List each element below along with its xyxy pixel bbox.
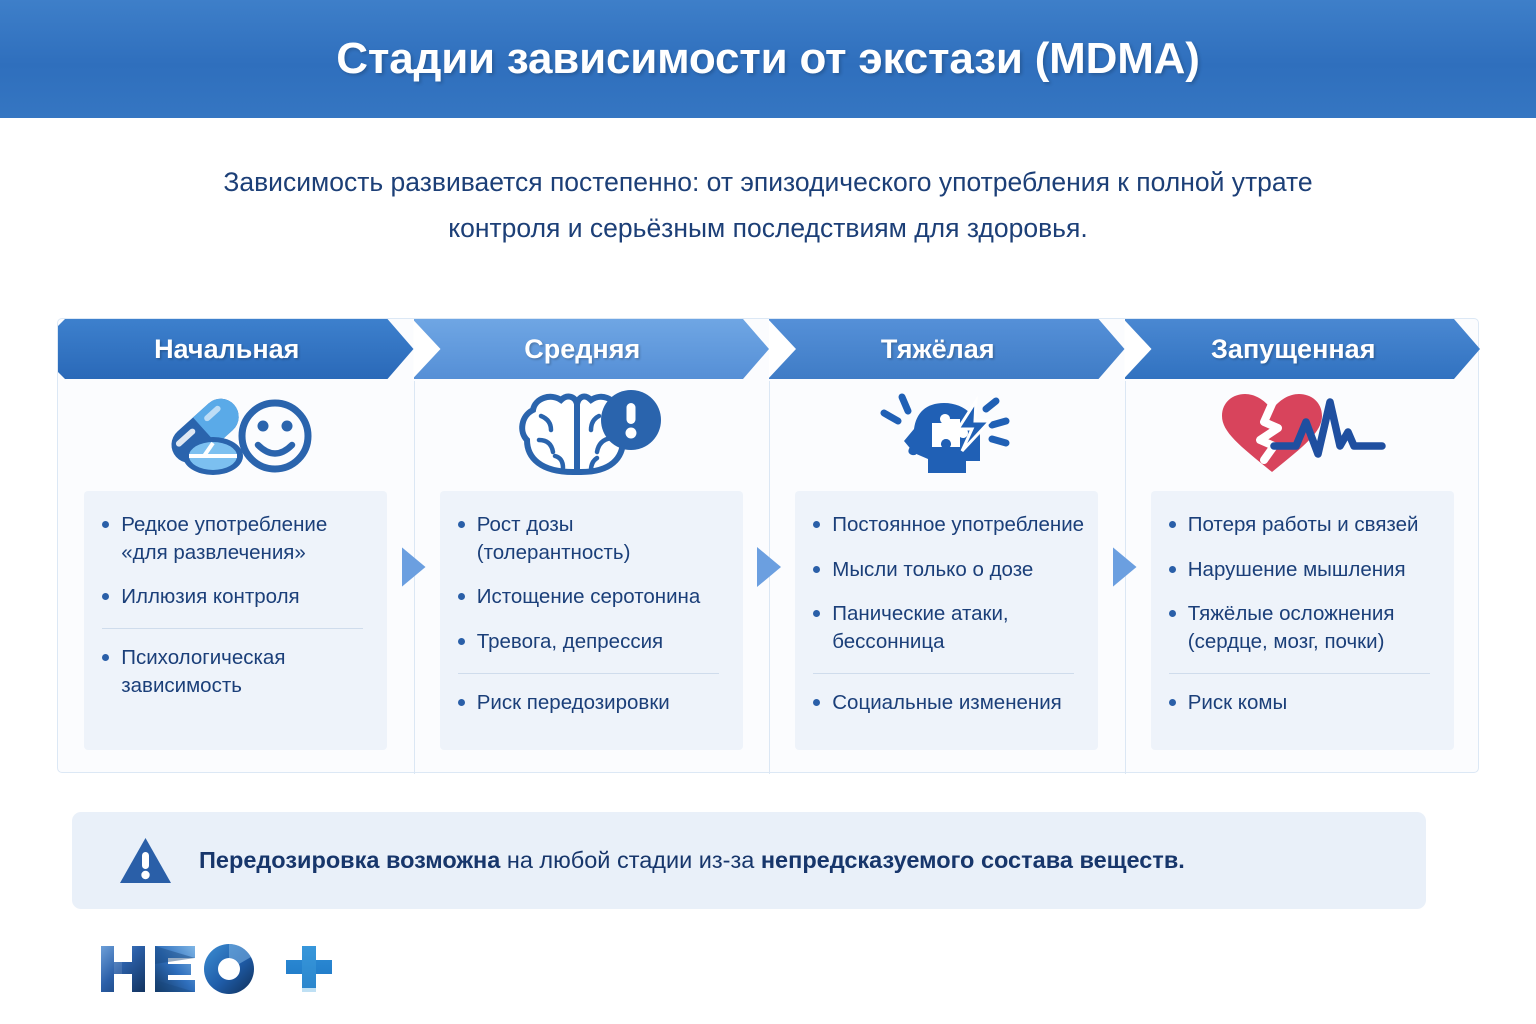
stage-banner-2[interactable]: Средняя: [414, 319, 770, 379]
stage-banner-4[interactable]: Запущенная: [1125, 319, 1481, 379]
stage-bullets-4: Потеря работы и связей Нарушение мышлени…: [1165, 511, 1440, 716]
stage-column-4[interactable]: Запущенная Потеря работы и связей Наруше…: [1125, 319, 1481, 774]
subtitle-container: Зависимость развивается постепенно: от э…: [0, 118, 1536, 251]
stage-card-4: Потеря работы и связей Нарушение мышлени…: [1151, 491, 1454, 750]
stage-banner-3[interactable]: Тяжёлая: [769, 319, 1125, 379]
warning-triangle-icon: [118, 836, 173, 885]
stage-icon-area-3: [769, 379, 1125, 491]
stages-panel: Начальная: [57, 318, 1479, 773]
list-item: Рост дозы (толерантность): [454, 511, 729, 566]
list-item: Редкое употребление «для развлечения»: [98, 511, 373, 566]
header-bar: Стадии зависимости от экстази (MDMA): [0, 0, 1536, 118]
stage-bullets-1: Редкое употребление «для развлечения» Ил…: [98, 511, 373, 699]
warning-regular-middle: на любой стадии из-за: [500, 847, 761, 873]
list-item: Социальные изменения: [809, 673, 1084, 717]
neo-plus-logo[interactable]: [95, 938, 345, 1000]
brain-alert-icon: [511, 388, 671, 483]
warning-text: Передозировка возможна на любой стадии и…: [199, 845, 1185, 876]
stage-icon-area-2: [414, 379, 770, 491]
broken-heart-ecg-icon: [1212, 388, 1392, 483]
stage-column-2[interactable]: Средняя: [414, 319, 770, 774]
stage-card-1: Редкое употребление «для развлечения» Ил…: [84, 491, 387, 750]
banner-notch: [1124, 319, 1152, 379]
list-item: Потеря работы и связей: [1165, 511, 1440, 539]
list-item: Панические атаки, бессонница: [809, 600, 1084, 655]
flow-arrow-1-to-2: [402, 547, 426, 587]
warning-bold-start: Передозировка возможна: [199, 847, 500, 873]
stage-column-3[interactable]: Тяжёлая: [769, 319, 1125, 774]
stage-card-2: Рост дозы (толерантность) Истощение серо…: [440, 491, 743, 750]
stage-card-3: Постоянное употребление Мысли только о д…: [795, 491, 1098, 750]
banner-notch: [768, 319, 796, 379]
stage-label-1: Начальная: [154, 334, 299, 365]
list-item: Тяжёлые осложнения (сердце, мозг, почки): [1165, 600, 1440, 655]
stage-label-2: Средняя: [524, 334, 640, 365]
subtitle-text: Зависимость развивается постепенно: от э…: [178, 160, 1358, 251]
list-item: Иллюзия контроля: [98, 583, 373, 611]
stage-column-1[interactable]: Начальная: [58, 319, 414, 774]
page-title: Стадии зависимости от экстази (MDMA): [336, 34, 1199, 84]
stage-label-3: Тяжёлая: [881, 334, 995, 365]
stage-bullets-2: Рост дозы (толерантность) Истощение серо…: [454, 511, 729, 716]
banner-notch: [413, 319, 441, 379]
pills-smiley-icon: [151, 388, 321, 483]
list-item: Риск передозировки: [454, 673, 729, 717]
stage-icon-area-4: [1125, 379, 1481, 491]
list-item: Нарушение мышления: [1165, 556, 1440, 584]
warning-banner: Передозировка возможна на любой стадии и…: [72, 812, 1426, 909]
list-item: Мысли только о дозе: [809, 556, 1084, 584]
warning-bold-end: непредсказуемого состава веществ.: [761, 847, 1185, 873]
list-item: Постоянное употребление: [809, 511, 1084, 539]
head-puzzle-lightning-icon: [862, 385, 1032, 485]
list-item: Риск комы: [1165, 673, 1440, 717]
stages-row: Начальная: [58, 319, 1480, 774]
flow-arrow-3-to-4: [1113, 547, 1137, 587]
stage-label-4: Запущенная: [1211, 334, 1375, 365]
stage-banner-1[interactable]: Начальная: [58, 319, 414, 379]
list-item: Психологическая зависимость: [98, 628, 373, 699]
list-item: Тревога, депрессия: [454, 628, 729, 656]
stage-bullets-3: Постоянное употребление Мысли только о д…: [809, 511, 1084, 716]
stage-icon-area-1: [58, 379, 414, 491]
list-item: Истощение серотонина: [454, 583, 729, 611]
flow-arrow-2-to-3: [757, 547, 781, 587]
